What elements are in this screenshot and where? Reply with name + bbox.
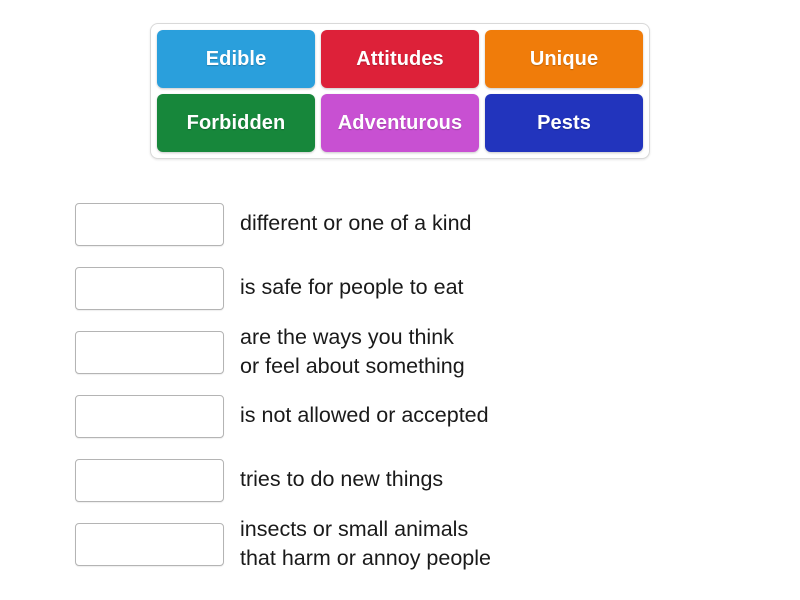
word-tile-edible[interactable]: Edible [157,30,315,88]
definition-row: is safe for people to eat [75,256,775,320]
answer-drop-box[interactable] [75,267,224,310]
word-tile-forbidden[interactable]: Forbidden [157,94,315,152]
answer-drop-box[interactable] [75,331,224,374]
word-tile-pests[interactable]: Pests [485,94,643,152]
word-tile-adventurous[interactable]: Adventurous [321,94,479,152]
definition-row: are the ways you think or feel about som… [75,320,775,384]
definition-row: different or one of a kind [75,192,775,256]
definition-text: tries to do new things [240,465,443,494]
answer-drop-box[interactable] [75,203,224,246]
definition-row: is not allowed or accepted [75,384,775,448]
word-bank-row-1: Edible Attitudes Unique [157,30,643,88]
word-bank: Edible Attitudes Unique Forbidden Advent… [150,23,650,159]
answer-drop-box[interactable] [75,459,224,502]
word-bank-row-2: Forbidden Adventurous Pests [157,94,643,152]
answer-drop-box[interactable] [75,523,224,566]
definition-text: different or one of a kind [240,209,471,238]
definition-text: is safe for people to eat [240,273,464,302]
word-tile-attitudes[interactable]: Attitudes [321,30,479,88]
definition-text: are the ways you think or feel about som… [240,323,465,382]
word-tile-unique[interactable]: Unique [485,30,643,88]
definition-text: is not allowed or accepted [240,401,489,430]
definition-list: different or one of a kind is safe for p… [75,192,775,576]
definition-text: insects or small animals that harm or an… [240,515,491,574]
answer-drop-box[interactable] [75,395,224,438]
definition-row: tries to do new things [75,448,775,512]
definition-row: insects or small animals that harm or an… [75,512,775,576]
